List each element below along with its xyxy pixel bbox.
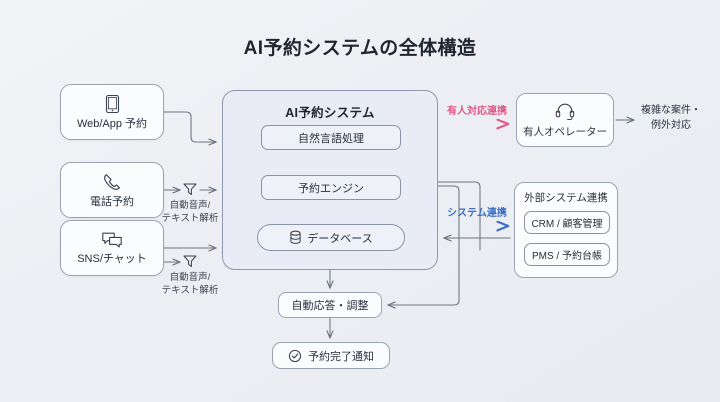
system-link-label: システム連携 bbox=[442, 207, 512, 221]
node-complete-label: 予約完了通知 bbox=[308, 348, 374, 364]
source-node-sns[interactable]: SNS/チャット bbox=[60, 220, 164, 276]
source-node-web[interactable]: Web/App 予約 bbox=[60, 84, 164, 140]
node-human-operator[interactable]: 有人オペレーター bbox=[516, 93, 614, 147]
tablet-icon bbox=[104, 94, 121, 114]
node-reservation-complete[interactable]: 予約完了通知 bbox=[272, 342, 390, 369]
node-engine-label: 予約エンジン bbox=[298, 180, 364, 196]
source-label-sns: SNS/チャット bbox=[77, 253, 147, 267]
external-systems-title: 外部システム連携 bbox=[515, 190, 617, 205]
ai-system-panel: AI予約システム 自然言語処理 予約エンジン データベース bbox=[222, 90, 438, 270]
human-handoff-label: 有人対応連携 bbox=[444, 105, 510, 119]
page-title: AI予約システムの全体構造 bbox=[0, 33, 720, 60]
external-item-crm[interactable]: CRM / 顧客管理 bbox=[524, 211, 610, 234]
node-nlp-label: 自然言語処理 bbox=[298, 130, 364, 146]
external-crm-label: CRM / 顧客管理 bbox=[531, 215, 602, 230]
operator-label: 有人オペレーター bbox=[523, 124, 607, 139]
chat-icon bbox=[101, 231, 123, 249]
external-pms-label: PMS / 予約台帳 bbox=[532, 247, 602, 262]
source-label-phone: 電話予約 bbox=[90, 196, 134, 210]
diagram-canvas: AI予約システムの全体構造 bbox=[0, 0, 720, 402]
funnel-icon-sns bbox=[181, 253, 199, 271]
phone-icon bbox=[102, 172, 123, 192]
operator-outcome-label: 複雑な案件・ 例外対応 bbox=[628, 104, 714, 133]
funnel-icon-phone bbox=[181, 181, 199, 199]
node-auto-response-label: 自動応答・調整 bbox=[292, 297, 369, 313]
external-systems-group: 外部システム連携 CRM / 顧客管理 PMS / 予約台帳 bbox=[514, 182, 618, 278]
source-label-web: Web/App 予約 bbox=[77, 118, 147, 132]
ai-system-title: AI予約システム bbox=[223, 102, 437, 121]
node-nlp[interactable]: 自然言語処理 bbox=[261, 125, 401, 150]
node-auto-response[interactable]: 自動応答・調整 bbox=[278, 292, 382, 318]
filter-label-sns: 自動音声/ テキスト解析 bbox=[136, 272, 244, 298]
headset-icon bbox=[554, 102, 576, 121]
node-database[interactable]: データベース bbox=[257, 224, 405, 251]
external-item-pms[interactable]: PMS / 予約台帳 bbox=[524, 243, 610, 266]
check-circle-icon bbox=[288, 349, 302, 363]
database-icon bbox=[289, 230, 302, 245]
node-db-label: データベース bbox=[307, 230, 372, 246]
node-reservation-engine[interactable]: 予約エンジン bbox=[261, 175, 401, 200]
